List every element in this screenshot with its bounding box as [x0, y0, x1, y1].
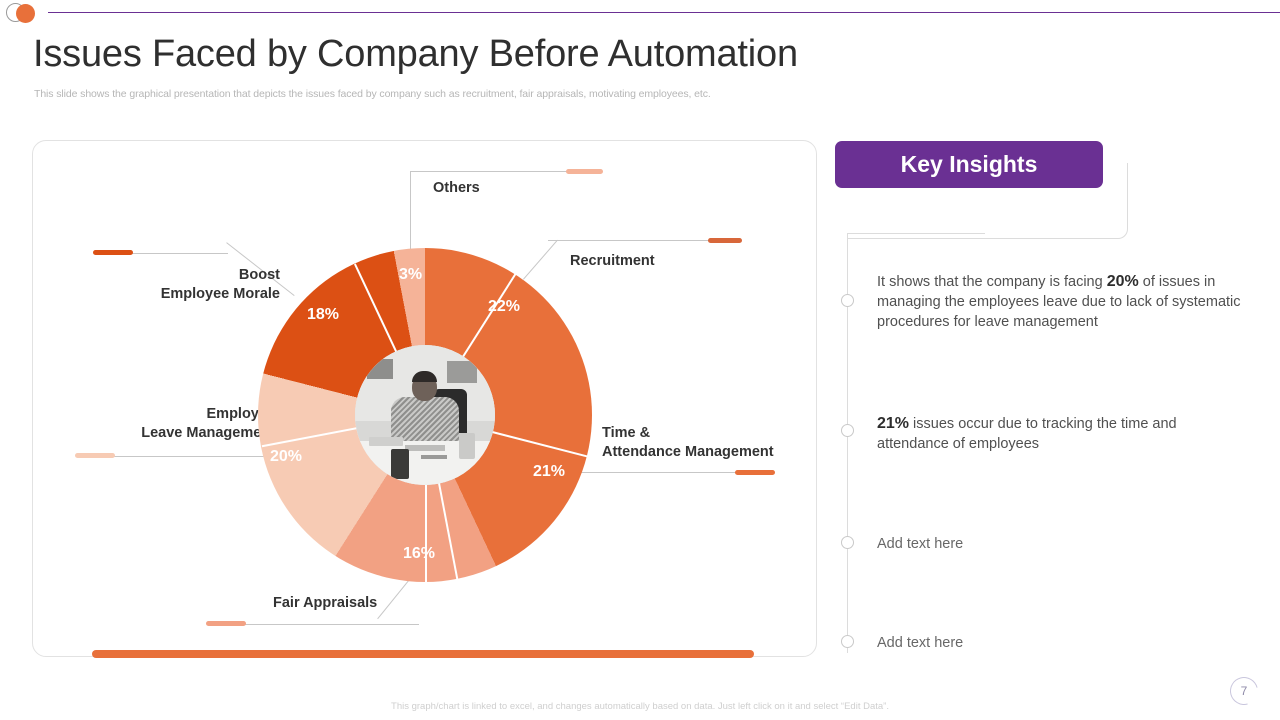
- leader-line-fair-appraisals-horizontal: [227, 624, 419, 625]
- insight-text-4[interactable]: Add text here: [877, 633, 1249, 653]
- chart-source-note: This graph/chart is linked to excel, and…: [0, 701, 1280, 712]
- key-insights-header: Key Insights: [835, 141, 1103, 188]
- insight-1-strong: 20%: [1107, 273, 1139, 290]
- slice-value-employee-leave: 20%: [270, 448, 302, 466]
- callout-label-time-attendance: Time & Attendance Management: [602, 424, 774, 462]
- page-number-indicator: 7: [1230, 677, 1258, 705]
- callout-dash-employee-leave: [75, 453, 115, 458]
- slice-value-boost-morale: 18%: [307, 306, 339, 324]
- header-divider: [48, 12, 1280, 13]
- donut-center-image: [355, 345, 495, 485]
- callout-dash-recruitment: [708, 238, 742, 243]
- donut-chart[interactable]: 22% 21% 16% 20% 18% 3%: [258, 248, 592, 582]
- insight-bullet-4[interactable]: [841, 635, 854, 648]
- callout-dash-others: [566, 169, 603, 174]
- key-insights-title: Key Insights: [901, 151, 1038, 178]
- insight-2-strong: 21%: [877, 415, 909, 432]
- leader-line-others-horizontal: [410, 171, 568, 172]
- leader-line-time-attendance-horizontal: [578, 472, 738, 473]
- callout-label-employee-leave: Employee Leave Management: [98, 405, 275, 443]
- callout-label-others: Others: [433, 179, 480, 198]
- leader-line-employee-leave-horizontal: [100, 456, 272, 457]
- insight-bullet-3[interactable]: [841, 536, 854, 549]
- insights-connector-top: [847, 233, 985, 234]
- insight-bullet-1[interactable]: [841, 294, 854, 307]
- slice-value-time-attendance: 21%: [533, 463, 565, 481]
- businessman-at-desk-photo: [355, 345, 495, 485]
- slice-value-recruitment: 22%: [488, 298, 520, 316]
- logo-dot-shape: [16, 4, 35, 23]
- callout-dash-time-attendance: [735, 470, 775, 475]
- leader-line-recruitment-horizontal: [548, 240, 712, 241]
- insight-text-2: 21% issues occur due to tracking the tim…: [877, 414, 1249, 454]
- logo-icon: [6, 3, 50, 23]
- page-title: Issues Faced by Company Before Automatio…: [33, 33, 798, 76]
- page-number-value: 7: [1230, 677, 1258, 705]
- insight-text-1: It shows that the company is facing 20% …: [877, 272, 1249, 332]
- insight-2-post: issues occur due to tracking the time an…: [877, 416, 1177, 452]
- slice-value-others: 3%: [399, 266, 422, 284]
- insight-bullet-2[interactable]: [841, 424, 854, 437]
- callout-dash-boost-morale: [93, 250, 133, 255]
- callout-dash-fair-appraisals: [206, 621, 246, 626]
- chart-card-underline: [92, 650, 754, 658]
- slice-value-fair-appraisals: 16%: [403, 545, 435, 563]
- leader-line-boost-morale-horizontal: [118, 253, 228, 254]
- insight-text-3[interactable]: Add text here: [877, 534, 1249, 554]
- callout-label-fair-appraisals: Fair Appraisals: [273, 594, 377, 613]
- insight-1-pre: It shows that the company is facing: [877, 274, 1107, 290]
- page-subtitle: This slide shows the graphical presentat…: [34, 88, 711, 100]
